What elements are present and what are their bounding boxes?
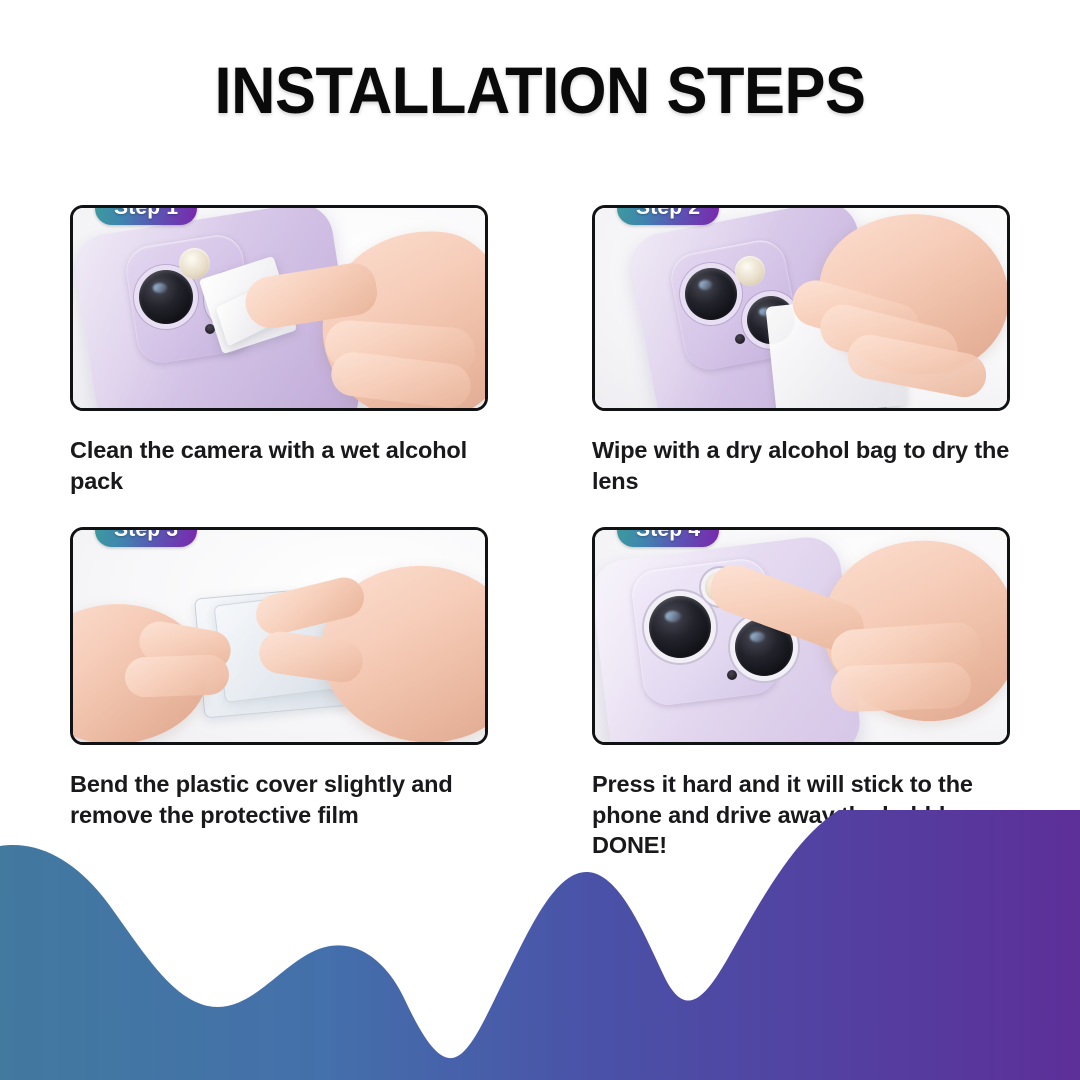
step-photo-3 (73, 530, 485, 742)
lens-glint (699, 280, 713, 289)
steps-grid: Step 1 Clean the camera with a wet alcoh… (0, 205, 1080, 867)
step-card-3[interactable]: Step 3 (70, 527, 488, 745)
page-title: INSTALLATION STEPS (38, 52, 1042, 128)
step-badge-1: Step 1 (95, 205, 197, 225)
step-card-4[interactable]: Step 4 (592, 527, 1010, 745)
step-photo-1 (73, 208, 485, 408)
lens-glint (750, 632, 765, 642)
poster-root: INSTALLATION STEPS (0, 0, 1080, 1080)
step-photo-2 (595, 208, 1007, 408)
microphone-icon (735, 334, 745, 344)
step-caption-1: Clean the camera with a wet alcohol pack (70, 435, 490, 496)
steps-row-1: Step 1 Clean the camera with a wet alcoh… (0, 205, 1080, 527)
lens-glint (665, 611, 681, 622)
wave-shape (0, 810, 1080, 1080)
main-lens (139, 270, 193, 324)
bottom-wave-decoration (0, 810, 1080, 1080)
ring-finger (830, 662, 972, 713)
step-badge-2: Step 2 (617, 205, 719, 225)
main-lens (685, 268, 737, 320)
step-badge-3: Step 3 (95, 527, 197, 547)
step-cell-3: Step 3 Bend the plastic cover slightly a… (70, 527, 502, 830)
flash-icon (179, 248, 210, 279)
step-card-1[interactable]: Step 1 (70, 205, 488, 411)
step-photo-4 (595, 530, 1007, 742)
step-badge-4: Step 4 (617, 527, 719, 547)
step-card-2[interactable]: Step 2 (592, 205, 1010, 411)
step-cell-2: Step 2 Wipe with a dry alcohol bag to dr… (592, 205, 1024, 496)
microphone-icon (727, 670, 737, 680)
main-lens-protector (649, 596, 711, 658)
lens-glint (153, 283, 167, 293)
left-thumb (124, 654, 229, 698)
step-cell-1: Step 1 Clean the camera with a wet alcoh… (70, 205, 502, 496)
step-caption-2: Wipe with a dry alcohol bag to dry the l… (592, 435, 1012, 496)
flash-icon (735, 256, 765, 286)
